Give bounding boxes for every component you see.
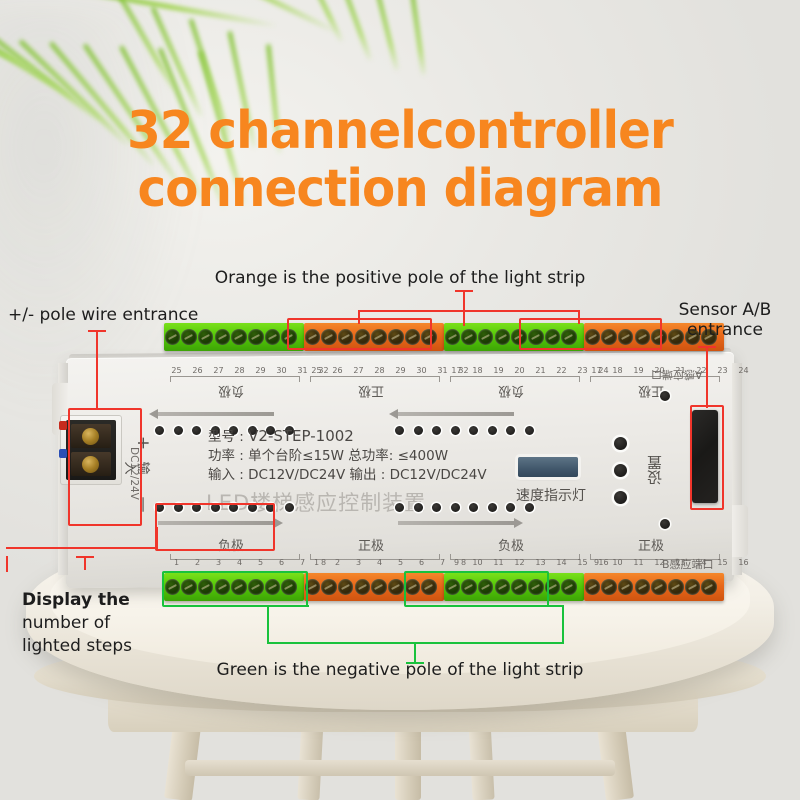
annotation-sensor-entrance: Sensor A/B entrance <box>655 300 795 340</box>
terminal-screw[interactable] <box>601 579 617 595</box>
terminal-screw[interactable] <box>701 579 717 595</box>
stool-stretcher <box>185 760 615 776</box>
highlight-box-step-holes <box>155 503 275 551</box>
leader-orange-tick <box>455 290 473 292</box>
leader-sensor-tick <box>698 346 716 348</box>
terminal-screw[interactable] <box>618 579 634 595</box>
case-screw-hole-top <box>660 391 670 401</box>
annotation-green-negative: Green is the negative pole of the light … <box>0 660 800 680</box>
pole-label-top-2: 正极 <box>358 383 384 402</box>
annotation-display-steps: Display the number of lighted steps <box>22 566 162 658</box>
spec-model-row: 型号 : V2-STEP-1002 <box>208 427 487 447</box>
leader-pole-tick <box>88 330 106 332</box>
spec-io-value: DC12V/DC24V 输出 : DC12V/DC24V <box>248 467 486 483</box>
leader-green-stub-left <box>267 605 309 607</box>
settings-button-2[interactable] <box>614 464 627 477</box>
annotation-display-steps-bold: Display the <box>22 590 130 610</box>
highlight-box-bottom-green-2 <box>404 571 549 607</box>
pole-label-bottom-3: 负极 <box>498 535 524 554</box>
speed-indicator-label: 速度指示灯 <box>516 485 586 505</box>
pole-label-top-1: 负极 <box>218 383 244 402</box>
pole-label-top-3: 负极 <box>498 383 524 402</box>
highlight-box-input-terminal <box>68 408 142 526</box>
highlight-box-ir-window <box>690 405 724 510</box>
palm-frond-right <box>300 0 560 90</box>
settings-button-3[interactable] <box>614 491 627 504</box>
annotation-orange-positive: Orange is the positive pole of the light… <box>0 268 800 288</box>
spec-model-label: 型号 <box>208 429 235 445</box>
leader-steps-connector <box>156 527 158 549</box>
terminal-screw[interactable] <box>651 579 667 595</box>
annotation-display-steps-rest: number of lighted steps <box>22 613 132 656</box>
page-title-line2: connection diagram <box>28 160 772 218</box>
terminal-screw[interactable] <box>181 329 197 345</box>
terminal-screw[interactable] <box>561 579 577 595</box>
device-spec-label: 型号 : V2-STEP-1002 功率 : 单个台阶≤15W 总功率: ≤40… <box>208 427 487 485</box>
terminal-strip-top-negative-25-32[interactable] <box>164 323 304 351</box>
spec-power-label: 功率 <box>208 448 235 464</box>
terminal-screw[interactable] <box>321 579 337 595</box>
highlight-box-bottom-green-1 <box>162 571 308 607</box>
terminal-screw[interactable] <box>371 579 387 595</box>
wire-holes-lower-right <box>395 503 534 512</box>
leader-sensor-vertical <box>706 346 708 408</box>
leader-green-stub-right <box>520 605 564 607</box>
terminal-strip-bottom-positive-9-16[interactable] <box>584 573 724 601</box>
terminal-screw[interactable] <box>478 329 494 345</box>
leader-orange-vertical-main <box>463 290 465 326</box>
leader-green-up-right <box>562 607 564 644</box>
settings-button-1[interactable] <box>614 437 627 450</box>
leader-steps-tick <box>76 556 94 558</box>
terminal-screw[interactable] <box>338 579 354 595</box>
case-screw-hole-bottom <box>660 519 670 529</box>
spec-power-value: 单个台阶≤15W 总功率: ≤400W <box>248 448 448 464</box>
terminal-screw[interactable] <box>445 329 461 345</box>
terminal-screw[interactable] <box>355 579 371 595</box>
leader-orange-down-left <box>358 310 360 324</box>
spec-io-label: 输入 <box>208 467 235 483</box>
terminal-screw[interactable] <box>388 579 404 595</box>
bracket-top-3 <box>450 376 580 382</box>
pole-label-bottom-4: 正极 <box>638 535 664 554</box>
spec-io-row: 输入 : DC12V/DC24V 输出 : DC12V/DC24V <box>208 466 487 485</box>
spec-model-value: V2-STEP-1002 <box>248 427 354 445</box>
terminal-screw[interactable] <box>198 329 214 345</box>
terminal-screw[interactable] <box>231 329 247 345</box>
bracket-top-1 <box>170 376 300 382</box>
leader-green-horizontal <box>267 642 564 644</box>
page-title: 32 channelcontroller connection diagram <box>28 102 772 218</box>
leader-pole-vertical <box>96 330 98 410</box>
terminal-screw[interactable] <box>585 579 601 595</box>
pole-label-bottom-2: 正极 <box>358 535 384 554</box>
bracket-top-2 <box>310 376 440 382</box>
speed-indicator-display <box>518 457 578 477</box>
direction-arrow-lower-right <box>398 521 514 525</box>
terminal-screw[interactable] <box>668 579 684 595</box>
terminal-screw[interactable] <box>165 329 181 345</box>
terminal-screw[interactable] <box>685 579 701 595</box>
direction-arrow-upper-right <box>398 412 514 416</box>
leader-orange-down-right <box>578 310 580 324</box>
wire-tab-red <box>59 421 67 430</box>
sensor-port-b-label: B感应端口 <box>662 556 714 572</box>
direction-arrow-upper-left <box>158 412 274 416</box>
spec-power-row: 功率 : 单个台阶≤15W 总功率: ≤400W <box>208 447 487 466</box>
terminal-screw[interactable] <box>215 329 231 345</box>
wire-tab-blue <box>59 449 67 458</box>
annotation-pole-wire-entrance: +/- pole wire entrance <box>8 305 198 325</box>
leader-steps-horizontal <box>6 547 158 549</box>
page-title-line1: 32 channelcontroller <box>28 102 772 160</box>
leader-green-up-left <box>267 607 269 644</box>
case-clip-right <box>732 505 748 557</box>
terminal-screw[interactable] <box>461 329 477 345</box>
terminal-screw[interactable] <box>635 579 651 595</box>
terminal-screw[interactable] <box>265 329 281 345</box>
highlight-box-top-orange-2 <box>519 318 662 350</box>
terminal-screw[interactable] <box>248 329 264 345</box>
terminal-screw[interactable] <box>495 329 511 345</box>
leader-orange-horizontal <box>358 310 580 312</box>
settings-label: 设置 <box>644 455 665 485</box>
leader-steps-left-vertical <box>6 556 8 572</box>
sensor-port-a-label: A感应端口 <box>651 367 703 383</box>
